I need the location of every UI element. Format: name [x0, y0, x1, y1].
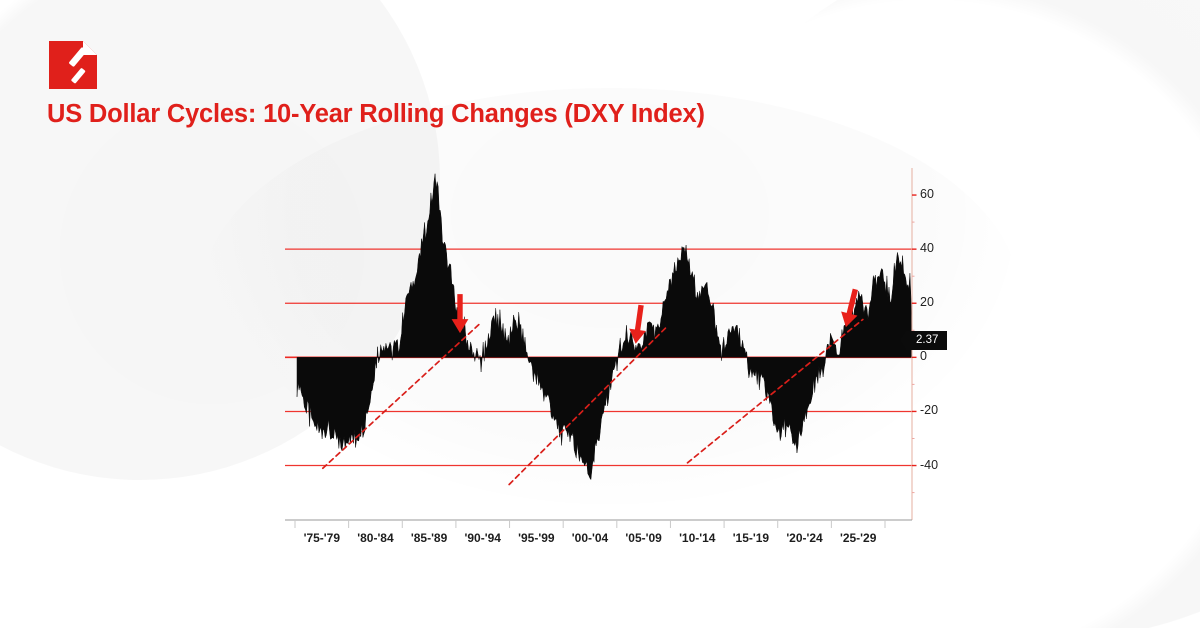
chart-container — [285, 168, 930, 528]
chart-axes — [285, 168, 917, 520]
chart-x-category-separators — [295, 520, 885, 528]
y-axis-label-20: 20 — [920, 295, 934, 309]
brand-logo-icon — [47, 39, 97, 89]
y-axis-label--20: -20 — [920, 403, 938, 417]
y-axis-label--40: -40 — [920, 458, 938, 472]
x-axis-label-2529: '25-'29 — [826, 531, 890, 545]
dxy-rolling-change-chart — [285, 168, 930, 528]
page-title: US Dollar Cycles: 10-Year Rolling Change… — [47, 100, 705, 129]
y-axis-label-0: 0 — [920, 349, 927, 363]
series-area-10-year-rolling-change- — [297, 174, 912, 480]
last-value-tag: 2.37 — [906, 331, 947, 350]
infographic-page: US Dollar Cycles: 10-Year Rolling Change… — [0, 0, 1200, 628]
y-axis-label-40: 40 — [920, 241, 934, 255]
chart-series-area — [297, 174, 912, 480]
y-axis-label-60: 60 — [920, 187, 934, 201]
chart-gridlines — [285, 195, 912, 493]
